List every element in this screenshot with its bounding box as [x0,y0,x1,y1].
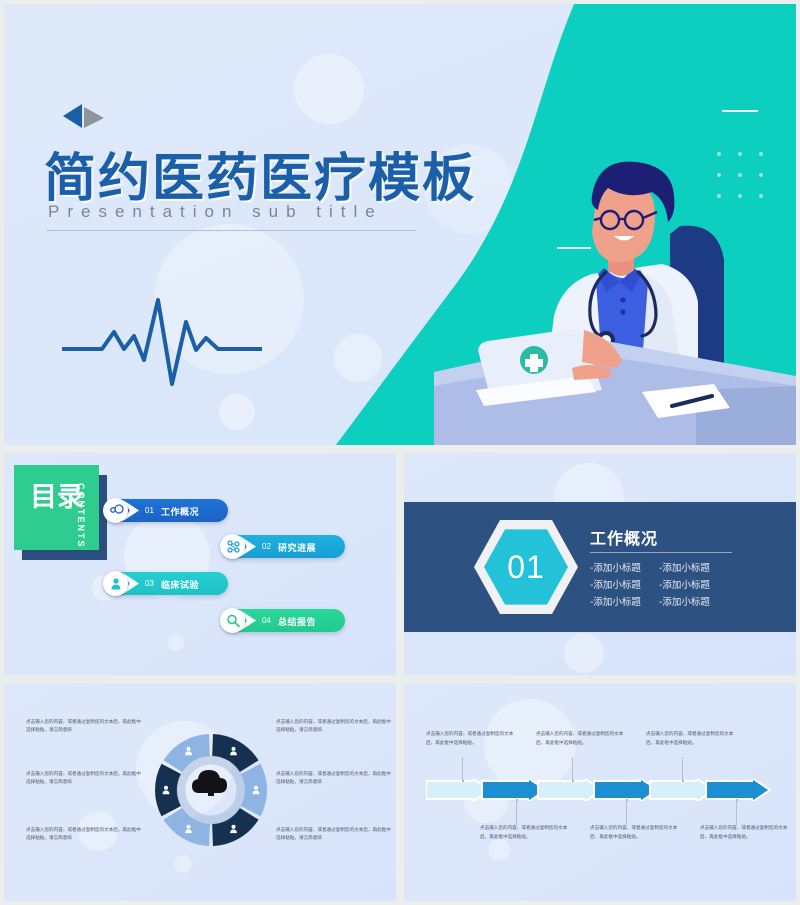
timeline-description-top: 点击输入您的内容，或者通过复制您的文本后，再此框中选择粘贴。 [646,731,734,749]
timeline-connector [516,801,517,825]
section-number: 01 [507,549,545,586]
section-bullet: -添加小标题 [590,561,641,578]
doctor-illustration [434,124,796,445]
cloud-upload-icon [192,770,227,796]
section-bullet: -添加小标题 [659,561,710,578]
decor-dash [557,247,591,249]
toc-item-01[interactable]: 01工作概况 [105,499,228,522]
slide-circular-diagram[interactable]: 点击输入您的内容，或者通过复制您的文本后，再此框中选择粘贴，请言简意赅点击输入您… [4,683,396,901]
presentation-preview-page: 简约医药医疗模板 Presentation sub title 目录 CONTE… [0,0,800,905]
donut-description: 点击输入您的内容，或者通过复制您的文本后，再此框中选择粘贴，请言简意赅 [276,827,391,844]
donut-chart [152,719,270,861]
section-divider-rule [590,552,732,553]
toc-item-number: 01 [145,506,154,515]
slide-arrow-timeline[interactable]: 点击输入您的内容，或者通过复制您的文本后，再此框中选择粘贴。点击输入您的内容，或… [404,683,796,901]
page-subtitle: Presentation sub title [48,202,383,222]
toc-item-number: 02 [262,542,271,551]
timeline-dot [682,780,684,782]
toc-item-label: 工作概况 [161,505,199,518]
section-bullet: -添加小标题 [659,578,710,595]
section-title: 工作概况 [590,525,658,549]
title-divider [46,230,416,231]
timeline-description-top: 点击输入您的内容，或者通过复制您的文本后，再此框中选择粘贴。 [536,731,624,749]
bokeh-circle [168,635,184,651]
section-bullet: -添加小标题 [590,595,641,612]
donut-description: 点击输入您的内容，或者通过复制您的文本后，再此框中选择粘贴，请言简意赅 [26,771,141,788]
person-badge-icon [103,571,128,596]
timeline-connector [626,801,627,825]
timeline-arrow[interactable] [538,779,602,801]
heartbeat-line-icon [62,292,262,387]
molecule-icon [103,498,128,523]
timeline-dot [572,780,574,782]
network-icon [220,534,245,559]
toc-item-label: 临床试验 [161,578,199,591]
timeline-description-bottom: 点击输入您的内容，或者通过复制您的文本后，再此框中选择粘贴。 [480,825,568,843]
decor-dash [722,110,758,112]
timeline-arrow[interactable] [482,779,546,801]
toc-item-number: 03 [145,579,154,588]
toc-item-02[interactable]: 02研究进展 [222,535,345,558]
timeline-arrow[interactable] [594,779,658,801]
timeline-connector [572,757,573,781]
double-triangle-logo-icon [60,103,106,129]
timeline-arrow[interactable] [650,779,714,801]
donut-svg [152,719,270,861]
timeline-dot [462,780,464,782]
toc-item-04[interactable]: 04总结报告 [222,609,345,632]
bokeh-circle [219,394,255,430]
toc-item-03[interactable]: 03临床试验 [105,572,228,595]
page-title: 简约医药医疗模板 [44,136,476,211]
bullet-column-right: -添加小标题-添加小标题-添加小标题 [659,561,710,612]
timeline-dot [736,799,738,801]
toc-block: 目录 CONTENTS [14,465,99,550]
bokeh-circle [564,633,604,673]
donut-description: 点击输入您的内容，或者通过复制您的文本后，再此框中选择粘贴，请言简意赅 [276,771,391,788]
slide-table-of-contents[interactable]: 目录 CONTENTS 01工作概况02研究进展03临床试验04总结报告 [4,453,396,675]
section-bullet: -添加小标题 [590,578,641,595]
toc-item-label: 研究进展 [278,541,316,554]
slide-section-divider[interactable]: 01 工作概况 -添加小标题-添加小标题-添加小标题 -添加小标题-添加小标题-… [404,453,796,675]
timeline-description-bottom: 点击输入您的内容，或者通过复制您的文本后，再此框中选择粘贴。 [590,825,678,843]
section-bullet-columns: -添加小标题-添加小标题-添加小标题 -添加小标题-添加小标题-添加小标题 [590,561,710,612]
toc-item-number: 04 [262,616,271,625]
timeline-description-bottom: 点击输入您的内容，或者通过复制您的文本后，再此框中选择粘贴。 [700,825,788,843]
donut-description: 点击输入您的内容，或者通过复制您的文本后，再此框中选择粘贴，请言简意赅 [276,719,391,736]
timeline-arrow[interactable] [706,779,770,801]
search-icon [220,608,245,633]
slide-title-cover[interactable]: 简约医药医疗模板 Presentation sub title [4,4,796,445]
donut-description: 点击输入您的内容，或者通过复制您的文本后，再此框中选择粘贴，请言简意赅 [26,827,141,844]
timeline-arrow[interactable] [426,779,490,801]
section-number-hexagon: 01 [474,517,578,617]
arrow-chevron-row [426,779,778,801]
timeline-description-top: 点击输入您的内容，或者通过复制您的文本后，再此框中选择粘贴。 [426,731,514,749]
timeline-dot [516,799,518,801]
toc-item-label: 总结报告 [278,615,316,628]
donut-description: 点击输入您的内容，或者通过复制您的文本后，再此框中选择粘贴，请言简意赅 [26,719,141,736]
timeline-connector [682,757,683,781]
timeline-connector [462,757,463,781]
bullet-column-left: -添加小标题-添加小标题-添加小标题 [590,561,641,612]
timeline-connector [736,801,737,825]
section-bullet: -添加小标题 [659,595,710,612]
timeline-dot [626,799,628,801]
toc-title-en: CONTENTS [76,483,86,549]
